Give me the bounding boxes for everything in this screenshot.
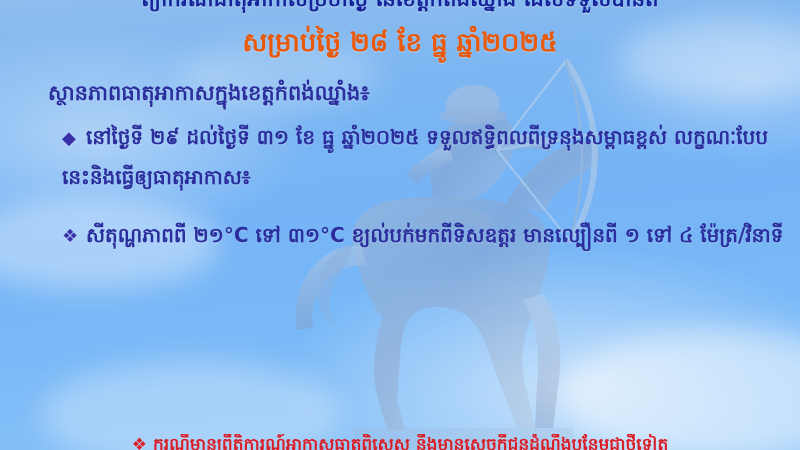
list-item-text: នៅថ្ងៃទី ២៩ ដល់ថ្ងៃទី ៣១ ខែ ធ្នូ ឆ្នាំ២០…	[62, 125, 768, 189]
weather-bulletin-poster: ព្យាករណ៍ធាតុអាកាសប្រចាំថ្ងៃ នៃខេត្តកំពង់…	[0, 0, 800, 450]
bulletin-date-subtitle: សម្រាប់ថ្ងៃ ២៨ ខែ ធ្នូ ឆ្នាំ២០២៥	[0, 26, 800, 64]
floral-bullet-icon: ❖	[132, 435, 147, 450]
list-item: ◆នៅថ្ងៃទី ២៩ ដល់ថ្ងៃទី ៣១ ខែ ធ្នូ ឆ្នាំ២…	[62, 118, 792, 196]
list-item-text: សីតុណ្ហភាពពី ២១°C ទៅ ៣១°C ខ្យល់បក់មកពីទិ…	[86, 223, 783, 247]
floral-bullet-icon: ❖	[62, 218, 86, 256]
poster-text-stack: ព្យាករណ៍ធាតុអាកាសប្រចាំថ្ងៃ នៃខេត្តកំពង់…	[0, 0, 800, 450]
page-title: ព្យាករណ៍ធាតុអាកាសប្រចាំថ្ងៃ នៃខេត្តកំពង់…	[0, 0, 800, 17]
footnote-text: ករណីមានព្រឹត្តិការណ៍អាកាសធាតុពិសេស នឹងមា…	[153, 435, 668, 450]
list-item: ❖សីតុណ្ហភាពពី ២១°C ទៅ ៣១°C ខ្យល់បក់មកពីទ…	[62, 216, 792, 256]
footnote: ❖ករណីមានព្រឹត្តិការណ៍អាកាសធាតុពិសេស នឹងម…	[0, 434, 800, 450]
diamond-bullet-icon: ◆	[62, 120, 86, 158]
section-title-weather-conditions: ស្ថានភាពធាតុអាកាសក្នុងខេត្តកំពង់ឈ្នាំង៖	[48, 80, 369, 111]
bullet-list: ◆នៅថ្ងៃទី ២៩ ដល់ថ្ងៃទី ៣១ ខែ ធ្នូ ឆ្នាំ២…	[62, 118, 792, 256]
